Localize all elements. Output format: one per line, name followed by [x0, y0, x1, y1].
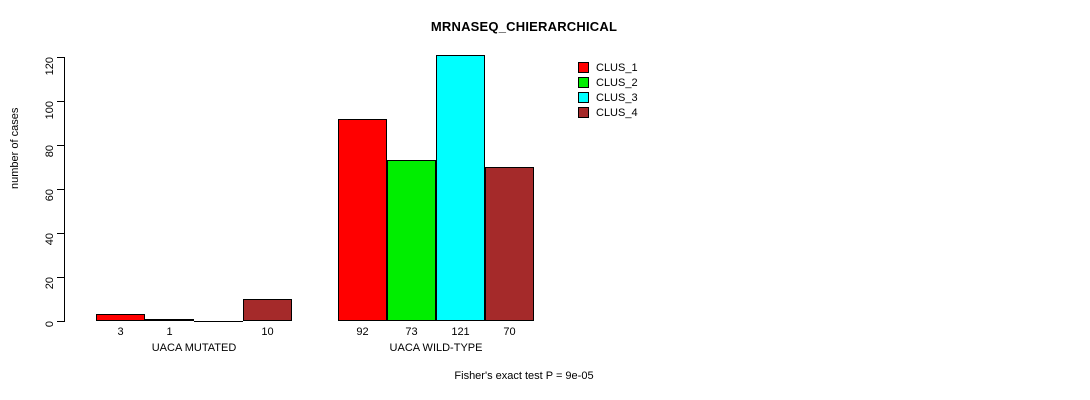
legend-item-label: CLUS_4: [596, 107, 638, 119]
bar-value-label: 10: [261, 326, 273, 338]
bar: [436, 55, 485, 321]
bar-value-label: 3: [117, 326, 123, 338]
bar: [338, 119, 387, 321]
statistical-annotation: Fisher's exact test P = 9e-05: [0, 370, 1069, 382]
bar-value-label: 92: [356, 326, 368, 338]
bar-value-label: 73: [405, 326, 417, 338]
legend-color-swatch: [578, 77, 589, 88]
bar: [387, 160, 436, 321]
bar: [96, 314, 145, 321]
legend-item: CLUS_2: [578, 75, 638, 90]
y-axis-tick-label: 80: [44, 145, 56, 157]
bar-value-label: 1: [166, 326, 172, 338]
y-axis-tick: [57, 233, 64, 234]
y-axis-tick-label: 60: [44, 189, 56, 201]
legend-item-label: CLUS_2: [596, 77, 638, 89]
legend-item-label: CLUS_1: [596, 62, 638, 74]
y-axis-tick: [57, 101, 64, 102]
bar-value-label: 70: [503, 326, 515, 338]
y-axis-tick-label: 20: [44, 277, 56, 289]
y-axis-tick: [57, 57, 64, 58]
bar: [485, 167, 534, 321]
y-axis-tick: [57, 145, 64, 146]
legend-color-swatch: [578, 107, 589, 118]
legend-item: CLUS_1: [578, 60, 638, 75]
legend-item: CLUS_4: [578, 105, 638, 120]
y-axis-tick-label: 100: [44, 101, 56, 119]
y-axis-tick-label: 40: [44, 233, 56, 245]
y-axis-tick-label: 120: [44, 57, 56, 75]
y-axis-line: [64, 57, 65, 322]
chart-canvas: MRNASEQ_CHIERARCHICAL number of cases 02…: [0, 0, 1090, 400]
legend: CLUS_1CLUS_2CLUS_3CLUS_4: [578, 60, 638, 120]
y-axis-tick: [57, 321, 64, 322]
legend-color-swatch: [578, 62, 589, 73]
legend-item-label: CLUS_3: [596, 92, 638, 104]
bar-zero-baseline: [194, 321, 243, 322]
page-title: MRNASEQ_CHIERARCHICAL: [0, 19, 1069, 34]
y-axis-tick: [57, 277, 64, 278]
legend-color-swatch: [578, 92, 589, 103]
legend-item: CLUS_3: [578, 90, 638, 105]
bar-value-label: 121: [451, 326, 469, 338]
y-axis-tick-label: 0: [44, 321, 56, 327]
y-axis-tick: [57, 189, 64, 190]
bar: [145, 319, 194, 321]
bar: [243, 299, 292, 321]
x-axis-group-label: UACA MUTATED: [152, 342, 237, 354]
x-axis-group-label: UACA WILD-TYPE: [390, 342, 483, 354]
y-axis-title: number of cases: [9, 108, 21, 189]
